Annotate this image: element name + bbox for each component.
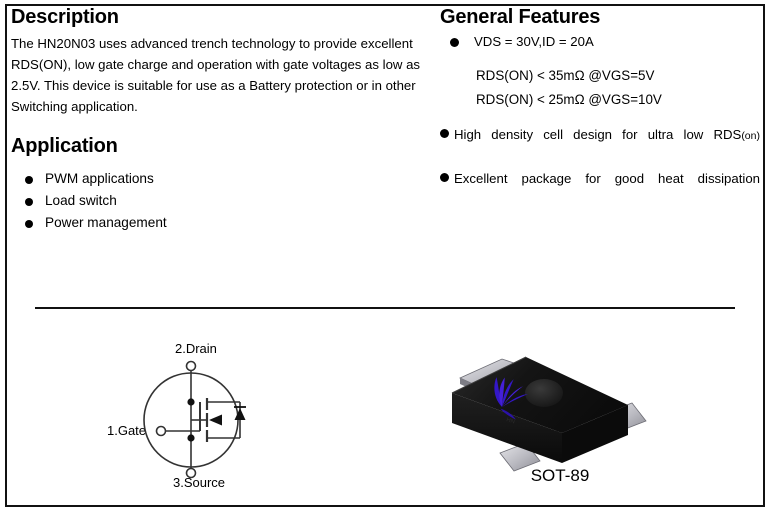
spacer xyxy=(440,112,760,124)
list-item: Power management xyxy=(11,212,431,234)
mosfet-symbol-diagram: 2.Drain 1.Gate 3.Source xyxy=(100,340,340,500)
application-list: PWM applications Load switch Power manag… xyxy=(11,168,431,234)
drain-terminal-label: 2.Drain xyxy=(175,341,217,356)
bullet-dot-icon xyxy=(25,198,33,206)
left-column: Description The HN20N03 uses advanced tr… xyxy=(11,6,431,234)
feature-excellent-package: Excellent package for good heat dissipat… xyxy=(440,168,760,210)
application-item-label: Load switch xyxy=(45,193,117,208)
bullet-dot-icon xyxy=(440,129,449,138)
channel-arrow-icon xyxy=(209,415,222,426)
package-name-label: SOT-89 xyxy=(440,466,680,486)
application-item-label: PWM applications xyxy=(45,171,154,186)
general-features-heading: General Features xyxy=(440,6,760,29)
bullet-dot-icon xyxy=(440,173,449,182)
gate-terminal-node xyxy=(157,427,166,436)
feature-high-density-label: High density cell design for ultra low R… xyxy=(454,127,741,142)
description-heading: Description xyxy=(11,6,431,29)
description-body: The HN20N03 uses advanced trench technol… xyxy=(11,33,431,117)
feature-rdson-10v: RDS(ON) < 25mΩ @VGS=10V xyxy=(440,88,760,112)
gate-terminal-label: 1.Gate xyxy=(107,423,146,438)
feature-ratings-label: VDS = 30V,ID = 20A xyxy=(474,34,594,49)
feature-excellent-package-label: Excellent package for good heat dissipat… xyxy=(454,171,760,186)
feature-ratings-row: VDS = 30V,ID = 20A xyxy=(440,31,760,52)
drain-junction-dot xyxy=(187,398,194,405)
list-item: Load switch xyxy=(11,190,431,212)
bullet-dot-icon xyxy=(25,220,33,228)
package-dimple xyxy=(525,379,563,407)
feature-high-density: High density cell design for ultra low R… xyxy=(440,124,760,168)
source-junction-dot xyxy=(187,434,194,441)
horizontal-divider xyxy=(35,307,735,309)
drain-terminal-node xyxy=(187,362,196,371)
right-column: General Features VDS = 30V,ID = 20A RDS(… xyxy=(440,6,760,210)
application-heading: Application xyxy=(11,135,431,158)
list-item: PWM applications xyxy=(11,168,431,190)
source-terminal-node xyxy=(187,469,196,478)
feature-rdson-5v: RDS(ON) < 35mΩ @VGS=5V xyxy=(440,64,760,88)
spacer xyxy=(440,52,760,64)
feature-high-density-subscript: (on) xyxy=(741,130,760,142)
bullet-dot-icon xyxy=(25,176,33,184)
bullet-dot-icon xyxy=(450,38,459,47)
description-text: The HN20N03 uses advanced trench technol… xyxy=(11,33,431,117)
source-terminal-label: 3.Source xyxy=(173,475,225,490)
application-item-label: Power management xyxy=(45,215,167,230)
